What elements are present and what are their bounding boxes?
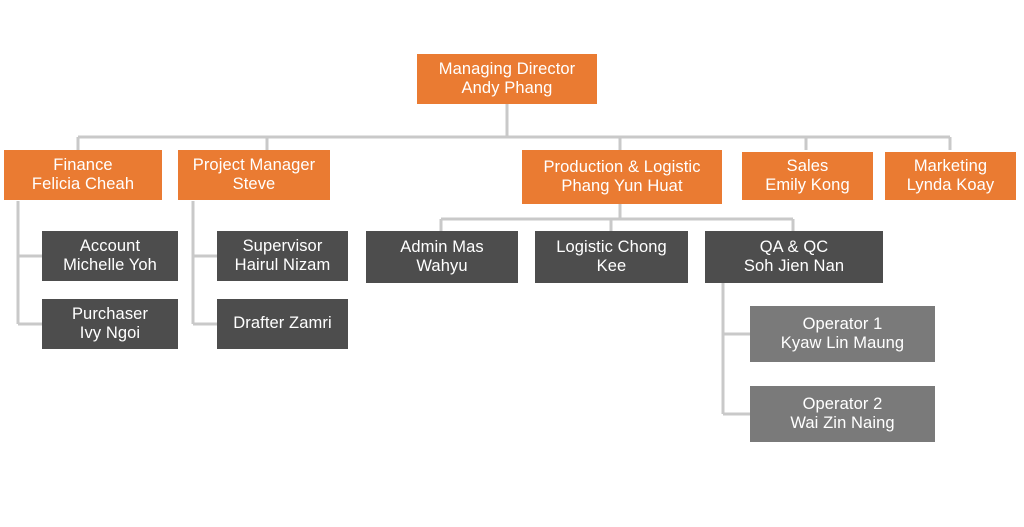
node-person: Steve bbox=[233, 175, 276, 194]
node-sales[interactable]: Sales Emily Kong bbox=[742, 152, 873, 200]
node-title: QA & QC bbox=[760, 238, 829, 257]
node-operator-2[interactable]: Operator 2 Wai Zin Naing bbox=[750, 386, 935, 442]
node-marketing[interactable]: Marketing Lynda Koay bbox=[885, 152, 1016, 200]
node-project-manager[interactable]: Project Manager Steve bbox=[178, 150, 330, 200]
node-operator-1[interactable]: Operator 1 Kyaw Lin Maung bbox=[750, 306, 935, 362]
node-person: Phang Yun Huat bbox=[561, 177, 682, 196]
node-person: Kyaw Lin Maung bbox=[781, 334, 904, 353]
node-qa-qc[interactable]: QA & QC Soh Jien Nan bbox=[705, 231, 883, 283]
node-title: Sales bbox=[787, 157, 829, 176]
node-title: Admin Mas bbox=[400, 238, 483, 257]
node-person: Emily Kong bbox=[765, 176, 849, 195]
node-title: Supervisor bbox=[243, 237, 323, 256]
node-person: Wai Zin Naing bbox=[790, 414, 894, 433]
node-admin[interactable]: Admin Mas Wahyu bbox=[366, 231, 518, 283]
node-title: Drafter Zamri bbox=[233, 314, 331, 333]
node-managing-director[interactable]: Managing Director Andy Phang bbox=[417, 54, 597, 104]
node-person: Andy Phang bbox=[462, 79, 553, 98]
node-person: Wahyu bbox=[416, 257, 467, 276]
node-logistic[interactable]: Logistic Chong Kee bbox=[535, 231, 688, 283]
node-person: Hairul Nizam bbox=[235, 256, 331, 275]
node-person: Michelle Yoh bbox=[63, 256, 157, 275]
node-title: Managing Director bbox=[439, 60, 576, 79]
node-title: Operator 1 bbox=[803, 315, 883, 334]
node-person: Felicia Cheah bbox=[32, 175, 134, 194]
node-title: Project Manager bbox=[193, 156, 316, 175]
node-supervisor[interactable]: Supervisor Hairul Nizam bbox=[217, 231, 348, 281]
node-drafter[interactable]: Drafter Zamri bbox=[217, 299, 348, 349]
node-finance[interactable]: Finance Felicia Cheah bbox=[4, 150, 162, 200]
node-account[interactable]: Account Michelle Yoh bbox=[42, 231, 178, 281]
node-production-logistic[interactable]: Production & Logistic Phang Yun Huat bbox=[522, 150, 722, 204]
org-chart: Managing Director Andy Phang Finance Fel… bbox=[0, 0, 1024, 527]
node-person: Ivy Ngoi bbox=[80, 324, 140, 343]
node-person: Soh Jien Nan bbox=[744, 257, 844, 276]
node-person: Lynda Koay bbox=[907, 176, 995, 195]
node-title: Marketing bbox=[914, 157, 987, 176]
node-title: Production & Logistic bbox=[543, 158, 700, 177]
node-title: Purchaser bbox=[72, 305, 148, 324]
node-title: Operator 2 bbox=[803, 395, 883, 414]
node-title: Logistic Chong bbox=[556, 238, 667, 257]
node-title: Account bbox=[80, 237, 140, 256]
node-person: Kee bbox=[597, 257, 627, 276]
node-title: Finance bbox=[53, 156, 112, 175]
node-purchaser[interactable]: Purchaser Ivy Ngoi bbox=[42, 299, 178, 349]
